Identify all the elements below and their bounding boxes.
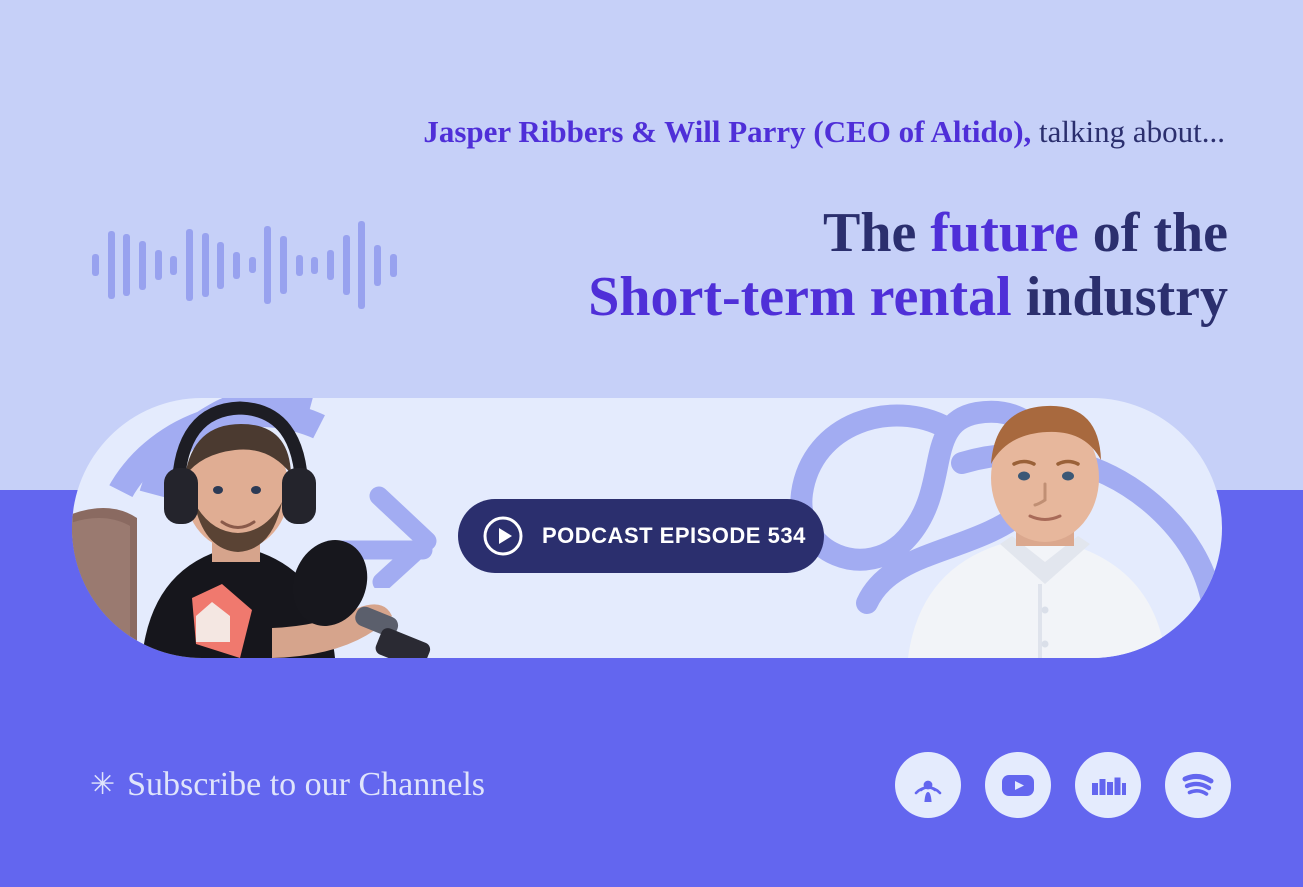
waveform-bar	[390, 254, 397, 277]
youtube-icon	[999, 766, 1037, 804]
waveform-bar	[358, 221, 365, 309]
title-line1-after: of the	[1079, 202, 1228, 264]
waveform-bar	[139, 241, 146, 290]
title-line2-after: industry	[1012, 266, 1228, 328]
podcast-episode-button[interactable]: PODCAST EPISODE 534	[458, 499, 824, 573]
podcast-promo-poster: Jasper Ribbers & Will Parry (CEO of Alti…	[0, 0, 1303, 887]
waveform-bar	[202, 233, 209, 297]
guest-photo-left	[72, 398, 432, 658]
social-link-spotify[interactable]	[1165, 752, 1231, 818]
waveform-bar	[123, 234, 130, 296]
subscribe-label: Subscribe to our Channels	[127, 766, 485, 804]
waveform-bar	[249, 257, 256, 273]
episode-label: PODCAST EPISODE 534	[542, 523, 806, 549]
waveform-bar	[264, 226, 271, 304]
headline: Jasper Ribbers & Will Parry (CEO of Alti…	[0, 113, 1225, 150]
waveform-bar	[108, 231, 115, 299]
waveform-bar	[170, 256, 177, 275]
spotify-icon	[1179, 766, 1217, 804]
deezer-icon	[1089, 766, 1127, 804]
waveform-bar	[311, 257, 318, 274]
social-link-youtube[interactable]	[985, 752, 1051, 818]
headline-guest-names: Jasper Ribbers & Will Parry (CEO of Alti…	[423, 114, 1031, 149]
audio-waveform-graphic	[92, 205, 397, 325]
waveform-bar	[217, 242, 224, 289]
waveform-bar	[327, 250, 334, 280]
waveform-bar	[92, 254, 99, 276]
title-line2-accent: Short-term rental	[588, 266, 1012, 328]
waveform-bar	[233, 252, 240, 279]
apple-podcasts-icon	[909, 766, 947, 804]
title-line1-before: The	[823, 202, 930, 264]
social-link-deezer[interactable]	[1075, 752, 1141, 818]
waveform-bar	[374, 245, 381, 286]
social-links-row	[895, 752, 1231, 818]
subscribe-callout: ✳ Subscribe to our Channels	[90, 766, 485, 804]
waveform-bar	[296, 255, 303, 276]
sparkle-icon: ✳	[90, 770, 115, 800]
waveform-bar	[155, 250, 162, 280]
social-link-apple-podcasts[interactable]	[895, 752, 961, 818]
headline-suffix: talking about...	[1031, 114, 1225, 149]
waveform-bar	[280, 236, 287, 294]
waveform-bar	[186, 229, 193, 301]
title-line1-accent: future	[930, 202, 1078, 264]
play-circle-icon	[482, 515, 524, 557]
guest-photo-right	[880, 398, 1210, 658]
waveform-bar	[343, 235, 350, 295]
